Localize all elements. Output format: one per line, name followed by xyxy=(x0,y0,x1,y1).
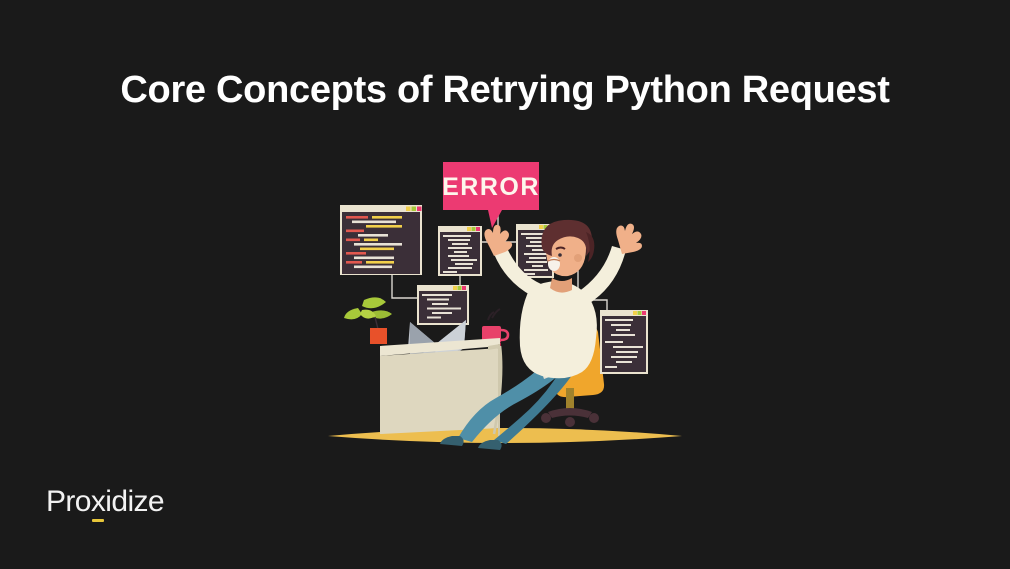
code-window-middle-lower xyxy=(417,285,469,325)
logo-highlight-letter: x xyxy=(91,487,105,517)
potted-plant xyxy=(344,297,392,344)
page-root: Core Concepts of Retrying Python Request xyxy=(0,0,1010,569)
brand-logo[interactable]: Proxidize xyxy=(46,487,164,517)
illustration-svg: ERROR xyxy=(320,150,690,450)
code-window-right-lower xyxy=(600,310,648,374)
logo-text-after: idize xyxy=(105,487,164,517)
error-speech-bubble: ERROR xyxy=(442,162,540,228)
code-window-top-middle xyxy=(438,226,482,276)
developer-error-illustration: ERROR xyxy=(320,150,690,450)
logo-text-before: Pro xyxy=(46,487,91,517)
page-title: Core Concepts of Retrying Python Request xyxy=(0,69,1010,113)
error-bubble-label: ERROR xyxy=(442,173,540,201)
code-window-left-large xyxy=(340,205,422,275)
